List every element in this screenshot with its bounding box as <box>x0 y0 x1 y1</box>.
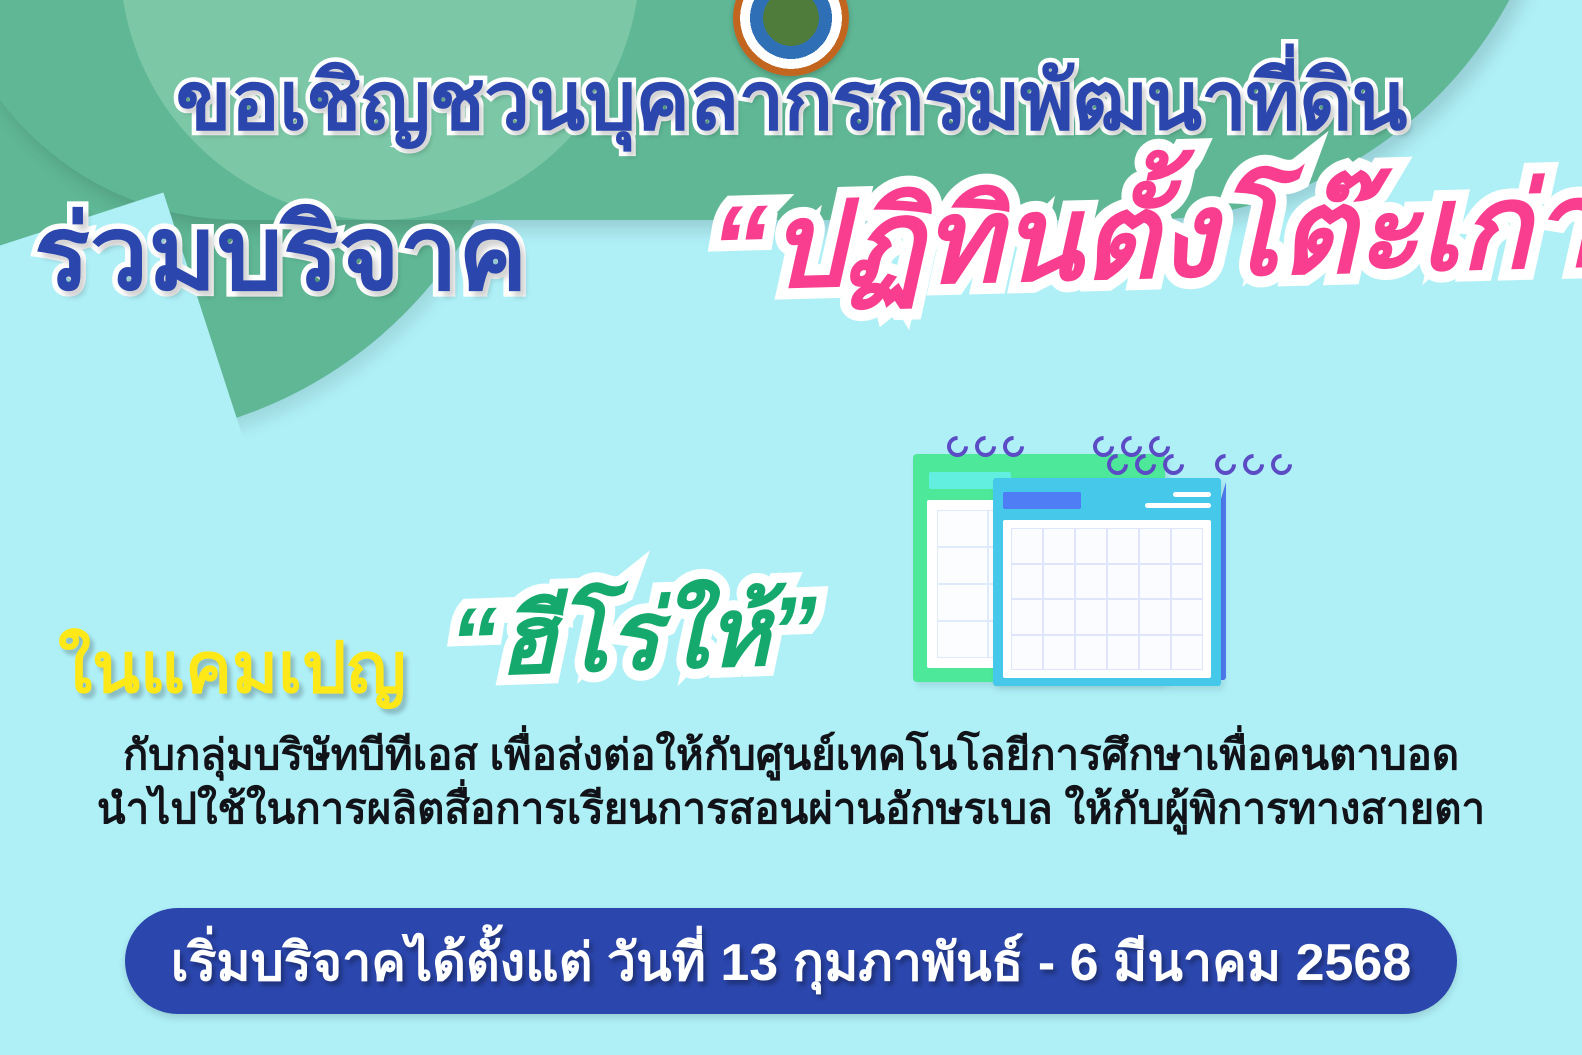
spiral-ring-icon <box>943 432 973 462</box>
spiral-ring-icon <box>971 432 1001 462</box>
spiral-ring-icon <box>999 432 1029 462</box>
calendar-blue-header-line-long <box>1145 503 1211 508</box>
headline-secondary-row: ร่วมบริจาค “ปฏิทินตั้งโต๊ะเก่า” <box>0 150 1582 330</box>
spiral-ring-icon <box>1131 450 1161 480</box>
poster-canvas: ขอเชิญชวนบุคลากรกรมพัฒนาที่ดิน ร่วมบริจา… <box>0 0 1582 1055</box>
spiral-ring-icon <box>1239 450 1269 480</box>
date-banner: เริ่มบริจาคได้ตั้งแต่ วันที่ 13 กุมภาพัน… <box>125 908 1457 1014</box>
date-banner-text: เริ่มบริจาคได้ตั้งแต่ วันที่ 13 กุมภาพัน… <box>171 920 1412 1003</box>
headline-item-name: “ปฏิทินตั้งโต๊ะเก่า” <box>708 128 1582 341</box>
calendar-blue-header-tab <box>1003 492 1081 509</box>
headline-donate: ร่วมบริจาค <box>34 170 528 335</box>
calendar-rings-blue-lower <box>1107 454 1184 475</box>
body-line-1: กับกลุ่มบริษัทบีทีเอส เพื่อส่งต่อให้กับศ… <box>0 728 1582 782</box>
calendar-rings-green <box>947 436 1024 457</box>
spiral-ring-icon <box>1159 450 1189 480</box>
body-paragraph: กับกลุ่มบริษัทบีทีเอส เพื่อส่งต่อให้กับศ… <box>0 728 1582 836</box>
calendar-rings-stand <box>1215 454 1292 475</box>
campaign-name: “ฮีโร่ให้” <box>447 554 820 719</box>
spiral-ring-icon <box>1211 450 1241 480</box>
calendar-blue-header-line-short <box>1173 492 1211 497</box>
campaign-row: ในแคมเปญ “ฮีโร่ให้” <box>0 590 1582 710</box>
spiral-ring-icon <box>1267 450 1297 480</box>
body-line-2: นำไปใช้ในการผลิตสื่อการเรียนการสอนผ่านอั… <box>0 782 1582 836</box>
campaign-label: ในแคมเปญ <box>58 612 406 723</box>
spiral-ring-icon <box>1103 450 1133 480</box>
